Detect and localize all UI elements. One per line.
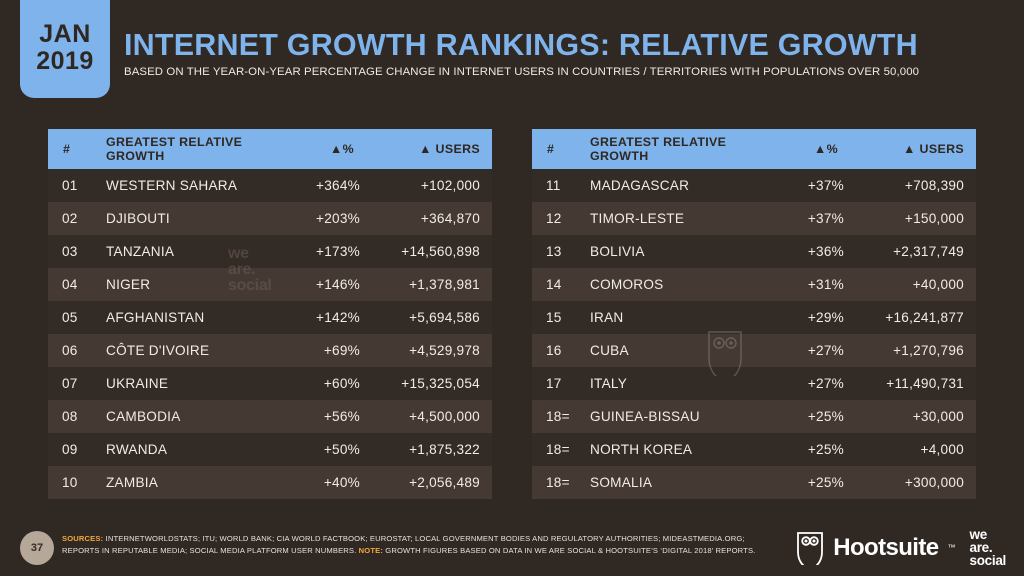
table-row: 16CUBA+27%+1,270,796 — [532, 334, 976, 367]
cell-pct: +56% — [278, 409, 374, 424]
cell-name: IRAN — [590, 310, 762, 325]
cell-users: +1,270,796 — [858, 343, 976, 358]
page-title: INTERNET GROWTH RANKINGS: RELATIVE GROWT… — [124, 28, 1014, 62]
cell-pct: +40% — [278, 475, 374, 490]
cell-users: +40,000 — [858, 277, 976, 292]
cell-name: CÔTE D'IVOIRE — [106, 343, 278, 358]
cell-pct: +31% — [762, 277, 858, 292]
col-header-users: ▲ USERS — [858, 142, 976, 156]
cell-rank: 12 — [532, 211, 590, 226]
cell-users: +5,694,586 — [374, 310, 492, 325]
cell-rank: 06 — [48, 343, 106, 358]
header-text-block: INTERNET GROWTH RANKINGS: RELATIVE GROWT… — [124, 28, 1014, 78]
hootsuite-logo: Hootsuite ™ — [796, 531, 955, 565]
col-header-name: GREATEST RELATIVE GROWTH — [590, 135, 762, 163]
table-row: 18=GUINEA-BISSAU+25%+30,000 — [532, 400, 976, 433]
cell-users: +11,490,731 — [858, 376, 976, 391]
cell-pct: +27% — [762, 376, 858, 391]
cell-pct: +25% — [762, 442, 858, 457]
cell-rank: 10 — [48, 475, 106, 490]
cell-name: MADAGASCAR — [590, 178, 762, 193]
cell-pct: +37% — [762, 178, 858, 193]
cell-users: +1,875,322 — [374, 442, 492, 457]
cell-users: +2,056,489 — [374, 475, 492, 490]
table-row: 13BOLIVIA+36%+2,317,749 — [532, 235, 976, 268]
cell-pct: +37% — [762, 211, 858, 226]
note-label: NOTE: — [359, 546, 383, 555]
cell-name: GUINEA-BISSAU — [590, 409, 762, 424]
table-row: 17ITALY+27%+11,490,731 — [532, 367, 976, 400]
table-row: 05AFGHANISTAN+142%+5,694,586 — [48, 301, 492, 334]
cell-rank: 11 — [532, 178, 590, 193]
table-row: 18=SOMALIA+25%+300,000 — [532, 466, 976, 499]
cell-rank: 08 — [48, 409, 106, 424]
cell-pct: +364% — [278, 178, 374, 193]
cell-users: +1,378,981 — [374, 277, 492, 292]
cell-rank: 01 — [48, 178, 106, 193]
cell-users: +364,870 — [374, 211, 492, 226]
table-left: # GREATEST RELATIVE GROWTH ▲% ▲ USERS 01… — [48, 129, 492, 499]
sources-note: SOURCES: INTERNETWORLDSTATS; ITU; WORLD … — [62, 533, 762, 556]
we-are-social-logo: we are. social — [970, 528, 1006, 567]
cell-pct: +142% — [278, 310, 374, 325]
cell-name: NIGER — [106, 277, 278, 292]
table-right-header-row: # GREATEST RELATIVE GROWTH ▲% ▲ USERS — [532, 129, 976, 169]
cell-rank: 05 — [48, 310, 106, 325]
hootsuite-wordmark: Hootsuite — [833, 534, 938, 562]
table-row: 18=NORTH KOREA+25%+4,000 — [532, 433, 976, 466]
cell-name: ITALY — [590, 376, 762, 391]
cell-pct: +36% — [762, 244, 858, 259]
cell-users: +14,560,898 — [374, 244, 492, 259]
cell-name: COMOROS — [590, 277, 762, 292]
cell-rank: 18= — [532, 442, 590, 457]
cell-users: +300,000 — [858, 475, 976, 490]
cell-users: +102,000 — [374, 178, 492, 193]
cell-users: +4,000 — [858, 442, 976, 457]
table-row: 09RWANDA+50%+1,875,322 — [48, 433, 492, 466]
date-badge: JAN 2019 — [20, 0, 110, 98]
cell-users: +150,000 — [858, 211, 976, 226]
col-header-pct: ▲% — [762, 142, 858, 156]
cell-name: SOMALIA — [590, 475, 762, 490]
cell-users: +2,317,749 — [858, 244, 976, 259]
col-header-rank: # — [532, 142, 590, 156]
cell-rank: 18= — [532, 475, 590, 490]
cell-rank: 16 — [532, 343, 590, 358]
cell-name: NORTH KOREA — [590, 442, 762, 457]
table-row: 01WESTERN SAHARA+364%+102,000 — [48, 169, 492, 202]
cell-pct: +146% — [278, 277, 374, 292]
cell-name: UKRAINE — [106, 376, 278, 391]
cell-name: CUBA — [590, 343, 762, 358]
cell-name: ZAMBIA — [106, 475, 278, 490]
cell-pct: +69% — [278, 343, 374, 358]
cell-name: BOLIVIA — [590, 244, 762, 259]
table-row: 04NIGER+146%+1,378,981 — [48, 268, 492, 301]
table-left-body: 01WESTERN SAHARA+364%+102,00002DJIBOUTI+… — [48, 169, 492, 499]
table-row: 12TIMOR-LESTE+37%+150,000 — [532, 202, 976, 235]
table-row: 08CAMBODIA+56%+4,500,000 — [48, 400, 492, 433]
cell-rank: 02 — [48, 211, 106, 226]
note-text: GROWTH FIGURES BASED ON DATA IN WE ARE S… — [383, 546, 755, 555]
cell-rank: 04 — [48, 277, 106, 292]
table-row: 11MADAGASCAR+37%+708,390 — [532, 169, 976, 202]
date-badge-year: 2019 — [36, 48, 94, 75]
cell-name: DJIBOUTI — [106, 211, 278, 226]
hootsuite-owl-icon — [796, 531, 824, 565]
cell-users: +30,000 — [858, 409, 976, 424]
table-row: 14COMOROS+31%+40,000 — [532, 268, 976, 301]
cell-pct: +29% — [762, 310, 858, 325]
cell-name: CAMBODIA — [106, 409, 278, 424]
cell-pct: +25% — [762, 475, 858, 490]
page-subtitle: BASED ON THE YEAR-ON-YEAR PERCENTAGE CHA… — [124, 66, 1014, 78]
cell-name: TIMOR-LESTE — [590, 211, 762, 226]
cell-pct: +60% — [278, 376, 374, 391]
cell-name: WESTERN SAHARA — [106, 178, 278, 193]
table-right-body: 11MADAGASCAR+37%+708,39012TIMOR-LESTE+37… — [532, 169, 976, 499]
cell-users: +708,390 — [858, 178, 976, 193]
table-row: 03TANZANIA+173%+14,560,898 — [48, 235, 492, 268]
cell-rank: 09 — [48, 442, 106, 457]
table-row: 15IRAN+29%+16,241,877 — [532, 301, 976, 334]
slide-root: JAN 2019 INTERNET GROWTH RANKINGS: RELAT… — [0, 0, 1024, 576]
cell-rank: 18= — [532, 409, 590, 424]
date-badge-month: JAN — [39, 21, 91, 48]
cell-rank: 14 — [532, 277, 590, 292]
cell-users: +15,325,054 — [374, 376, 492, 391]
col-header-pct: ▲% — [278, 142, 374, 156]
cell-users: +16,241,877 — [858, 310, 976, 325]
cell-pct: +50% — [278, 442, 374, 457]
col-header-name: GREATEST RELATIVE GROWTH — [106, 135, 278, 163]
table-left-header-row: # GREATEST RELATIVE GROWTH ▲% ▲ USERS — [48, 129, 492, 169]
page-number-badge: 37 — [20, 531, 54, 565]
table-row: 10ZAMBIA+40%+2,056,489 — [48, 466, 492, 499]
table-row: 07UKRAINE+60%+15,325,054 — [48, 367, 492, 400]
cell-users: +4,529,978 — [374, 343, 492, 358]
table-row: 02DJIBOUTI+203%+364,870 — [48, 202, 492, 235]
cell-users: +4,500,000 — [374, 409, 492, 424]
cell-pct: +27% — [762, 343, 858, 358]
cell-name: RWANDA — [106, 442, 278, 457]
cell-name: TANZANIA — [106, 244, 278, 259]
hootsuite-trademark: ™ — [948, 543, 956, 552]
col-header-users: ▲ USERS — [374, 142, 492, 156]
cell-pct: +203% — [278, 211, 374, 226]
cell-rank: 17 — [532, 376, 590, 391]
footer-logos: Hootsuite ™ we are. social — [796, 528, 1006, 567]
sources-label: SOURCES: — [62, 534, 103, 543]
cell-rank: 03 — [48, 244, 106, 259]
was-logo-line3: social — [970, 554, 1006, 567]
cell-rank: 13 — [532, 244, 590, 259]
cell-rank: 07 — [48, 376, 106, 391]
cell-pct: +25% — [762, 409, 858, 424]
cell-name: AFGHANISTAN — [106, 310, 278, 325]
table-row: 06CÔTE D'IVOIRE+69%+4,529,978 — [48, 334, 492, 367]
col-header-rank: # — [48, 142, 106, 156]
cell-pct: +173% — [278, 244, 374, 259]
cell-rank: 15 — [532, 310, 590, 325]
table-right: # GREATEST RELATIVE GROWTH ▲% ▲ USERS 11… — [532, 129, 976, 499]
